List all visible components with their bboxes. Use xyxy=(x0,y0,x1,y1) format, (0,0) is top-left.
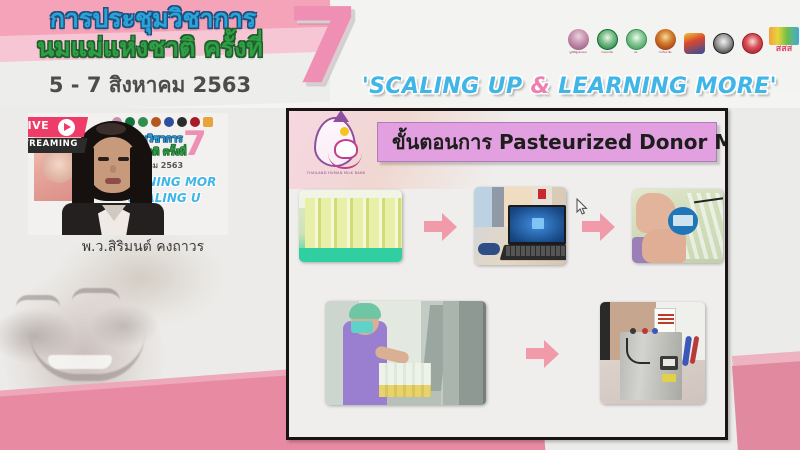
speaker-name-caption: พ.ว.สิริมนต์ คงถาวร xyxy=(28,236,258,258)
conference-title-line1: การประชุมวิชาการ xyxy=(18,4,288,34)
conference-tagline: 'SCALING UP & LEARNING MORE' xyxy=(362,74,777,99)
mouse-pointer xyxy=(576,198,588,216)
live-streaming-badge: LIVE STREAMING xyxy=(28,117,86,157)
logo-royal-college-icon xyxy=(655,29,676,50)
logo-thai-emblem-icon xyxy=(684,33,705,54)
presentation-slide: THAILAND HUMAN MILK BANK ขั้นตอนการ Past… xyxy=(286,108,728,440)
arrow-head-icon xyxy=(600,213,615,241)
flow-arrow-1 xyxy=(424,212,458,240)
logo-ministry-public-health-green: กรมอนามัย xyxy=(595,26,619,54)
logo-department-health: สธ. xyxy=(624,26,648,54)
live-label: LIVE xyxy=(28,119,49,132)
logo-caption: สธ. xyxy=(634,51,638,54)
flow-arrow-2 xyxy=(582,212,616,240)
photo2-red-marker xyxy=(538,189,546,199)
watermark-eye-right xyxy=(72,288,120,301)
photo4-face-mask xyxy=(351,321,373,333)
embracing-arms-icon xyxy=(328,153,362,169)
logo-red-seal xyxy=(740,26,764,54)
arrow-shaft xyxy=(582,221,602,232)
tagline-part2: LEARNING MORE' xyxy=(550,74,777,99)
process-flow-row-1 xyxy=(299,183,723,269)
logo-thaihealth: สสส xyxy=(769,26,799,54)
speaker-eye-left xyxy=(98,157,109,161)
tagline-ampersand: & xyxy=(531,74,551,99)
play-icon xyxy=(58,119,75,136)
logo-royal-patronage-icon xyxy=(568,29,589,50)
process-flow-row-2 xyxy=(325,293,705,413)
slide-title: ขั้นตอนการ Pasteurized Donor Milk xyxy=(377,122,717,162)
speaker-video-panel[interactable]: การประชุมวิชาการ นมแม่แห่งชาติ ครั้งที่ … xyxy=(28,113,228,235)
slide-presentation-screen: การประชุมวิชาการ นมแม่แห่งชาติ ครั้งที่ … xyxy=(0,0,800,450)
milk-drop-icon xyxy=(314,117,356,167)
photo5-control-panel xyxy=(660,356,678,370)
photo4-milk-bottles xyxy=(379,363,431,397)
logo-royal-college: ราชวิทยาลัย xyxy=(653,26,677,54)
photo1-floor xyxy=(299,248,402,262)
photo2-mouse xyxy=(478,243,500,255)
photo-nurse-pasteurizer xyxy=(325,301,486,405)
backdrop-edition-number: 7 xyxy=(183,127,207,161)
logo-thai-emblem xyxy=(682,26,706,54)
logo-black-seal-icon xyxy=(713,33,734,54)
conference-title-line2: นมแม่แห่งชาติ ครั้งที่ xyxy=(10,33,290,63)
logo-caption: มูลนิธิศูนย์นมแม่ xyxy=(569,51,586,54)
watermark-teeth xyxy=(48,355,112,369)
speaker-nose xyxy=(110,165,116,173)
backdrop-logo-5-icon xyxy=(164,117,174,127)
photo4-cabinet xyxy=(443,301,486,405)
logo-black-seal xyxy=(711,26,735,54)
logo-royal-patronage: มูลนิธิศูนย์นมแม่ xyxy=(566,26,590,54)
photo5-power-cord xyxy=(626,338,650,364)
arrow-shaft xyxy=(424,221,444,232)
human-milk-bank-logo: THAILAND HUMAN MILK BANK xyxy=(305,117,367,183)
photo-laptop-record xyxy=(474,187,566,265)
watermark-eye-left xyxy=(16,295,60,307)
logo-ministry-icon xyxy=(597,29,618,50)
flow-arrow-3 xyxy=(526,339,560,367)
photo-milk-bottle-rack xyxy=(299,190,402,262)
drop-highlight-icon xyxy=(340,127,349,136)
arrow-shaft xyxy=(526,348,546,359)
conference-date: 5 - 7 สิงหาคม 2563 xyxy=(10,72,290,98)
logo-thaihealth-label: สสส xyxy=(776,45,792,54)
photo2-laptop-screen xyxy=(510,207,564,242)
logo-caption: กรมอนามัย xyxy=(601,51,613,54)
logo-caption: ราชวิทยาลัย xyxy=(659,51,672,54)
photo-pasteurizer-machine xyxy=(600,302,705,404)
speaker-mouth xyxy=(105,178,121,184)
arrow-head-icon xyxy=(442,213,457,241)
arrow-head-icon xyxy=(544,340,559,368)
logo-red-seal-icon xyxy=(742,33,763,54)
photo4-surgical-cap xyxy=(349,303,381,319)
conference-header-banner: การประชุมวิชาการ นมแม่แห่งชาติ ครั้งที่ … xyxy=(0,0,800,108)
tagline-part1: 'SCALING UP xyxy=(362,74,531,99)
photo5-label-sticker xyxy=(662,374,676,382)
logo-department-icon xyxy=(626,29,647,50)
speaker-eye-right xyxy=(118,157,129,161)
photo-thermometer-check xyxy=(632,189,723,263)
sponsor-logo-strip: มูลนิธิศูนย์นมแม่ กรมอนามัย สธ. ราชวิทยา… xyxy=(566,26,799,54)
logo-thaihealth-icon xyxy=(769,27,799,45)
photo1-bottle-rack xyxy=(305,198,402,248)
streaming-label: STREAMING xyxy=(28,139,78,149)
photo2-keyboard xyxy=(506,246,566,256)
logo-caption: THAILAND HUMAN MILK BANK xyxy=(303,171,369,176)
photo2-screen-icon xyxy=(532,218,544,229)
speaker-hair-part xyxy=(96,123,126,135)
bottom-right-pink-band xyxy=(732,358,800,450)
conference-edition-number: 7 xyxy=(287,0,359,98)
